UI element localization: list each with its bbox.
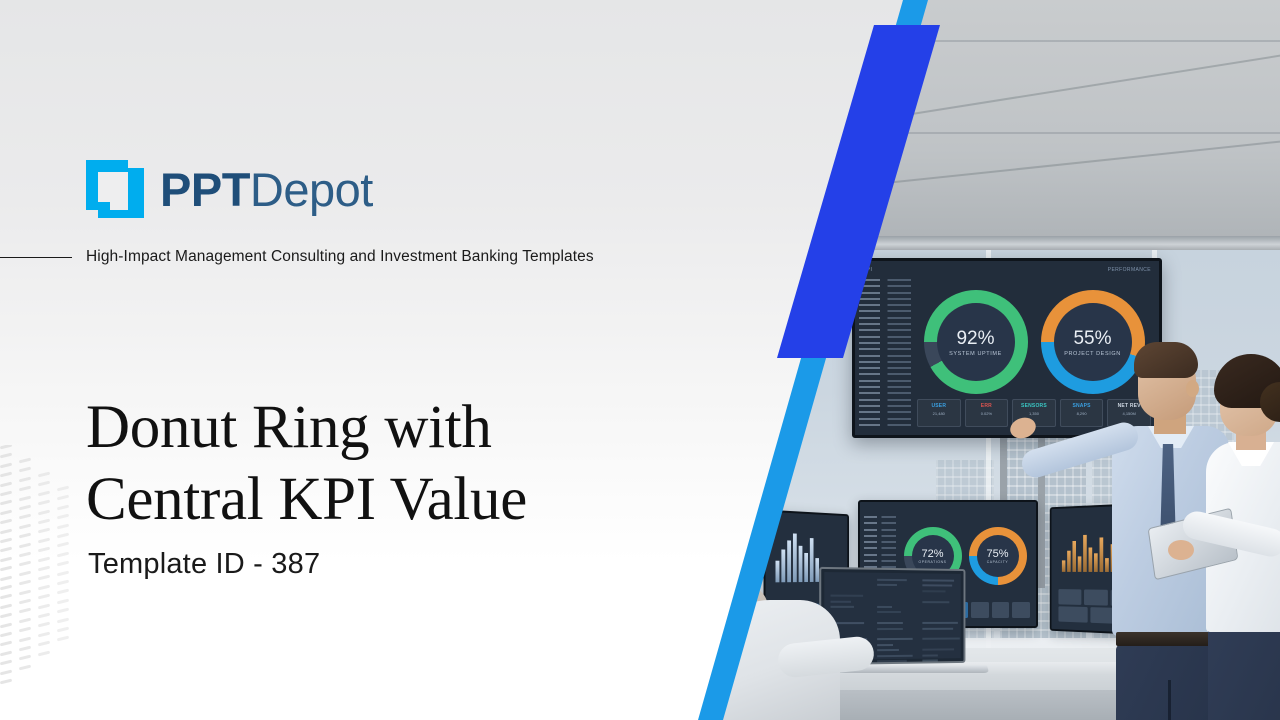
brand-tagline-row: High-Impact Management Consulting and In… (0, 248, 720, 266)
donut-value-operations: 72% (921, 548, 943, 560)
slide-subtitle-template-id: Template ID - 387 (88, 548, 320, 581)
donut-caption-system-uptime: SYSTEM UPTIME (949, 351, 1002, 357)
tv-kpi-card: SNAPS8,290 (1060, 399, 1104, 427)
tv-side-data-table (859, 279, 911, 401)
decorative-dash-pattern (0, 445, 80, 695)
person-woman-with-tablet (1212, 352, 1280, 720)
tv-kpi-card: USER21,480 (917, 399, 961, 427)
donut-chart-system-uptime: 92% SYSTEM UPTIME (924, 290, 1028, 394)
ceiling-beam (700, 236, 1280, 250)
slide-title: Donut Ring with Central KPI Value (86, 392, 686, 536)
donut-value-system-uptime: 92% (956, 328, 994, 350)
donut-caption-capacity: CAPACITY (987, 560, 1009, 564)
slide-title-line-2: Central KPI Value (86, 464, 686, 536)
brand-wordmark: PPTDepot (160, 166, 373, 213)
donut-value-capacity: 75% (986, 548, 1008, 560)
tv-dashboard-header-right: PERFORMANCE (1108, 267, 1151, 273)
tv-dashboard-header-left: KPI (863, 267, 872, 273)
office-photo: KPI PERFORMANCE 92% SYSTEM UPTIME (700, 0, 1280, 720)
donut-caption-operations: OPERATIONS (919, 560, 947, 564)
brand-tagline: High-Impact Management Consulting and In… (86, 248, 594, 266)
donut-center-system-uptime: 92% SYSTEM UPTIME (937, 303, 1015, 381)
donut-chart-capacity: 75% CAPACITY (969, 527, 1027, 585)
ceiling (700, 0, 1280, 250)
slide-title-line-1: Donut Ring with (86, 392, 686, 464)
brand-name-bold: PPT (160, 163, 250, 216)
slide-canvas: KPI PERFORMANCE 92% SYSTEM UPTIME (0, 0, 1280, 720)
hero-photo-panel: KPI PERFORMANCE 92% SYSTEM UPTIME (700, 0, 1280, 720)
brand-name-light: Depot (250, 163, 373, 216)
tagline-rule (0, 257, 72, 258)
pptdepot-bracket-logo-icon (86, 160, 144, 218)
brand-logo-block[interactable]: PPTDepot (86, 160, 373, 218)
tv-kpi-card: ERR0.02% (965, 399, 1009, 427)
donut-center-capacity: 75% CAPACITY (977, 535, 1019, 577)
